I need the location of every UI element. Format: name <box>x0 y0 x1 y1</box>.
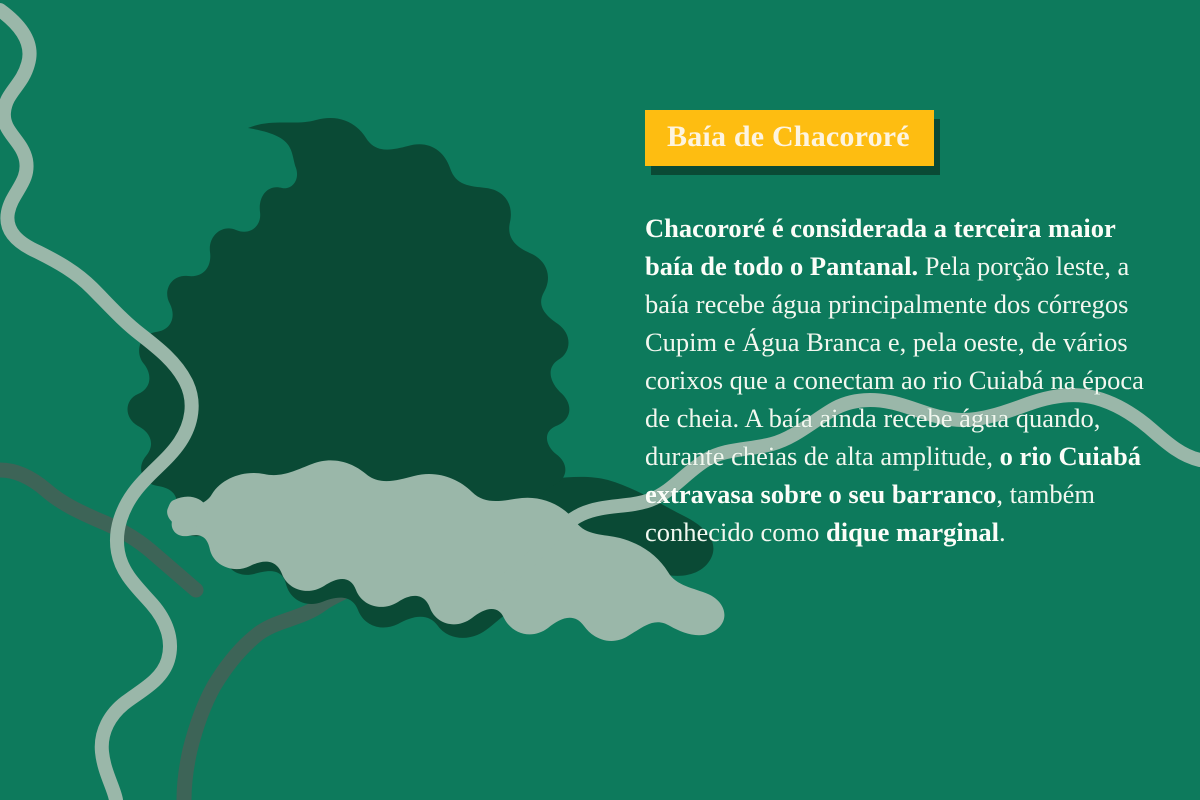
body-text-0: Pela porção leste, a baía recebe água pr… <box>645 251 1144 470</box>
body-copy: Chacororé é considerada a terceira maior… <box>645 210 1150 551</box>
info-panel: Baía de Chacororé Chacororé é considerad… <box>645 110 1165 551</box>
body-emphasis-3: dique marginal <box>826 517 999 547</box>
title-badge-wrapper: Baía de Chacororé <box>645 110 934 166</box>
illustration-canvas: Baía de Chacororé Chacororé é considerad… <box>0 0 1200 800</box>
page-title: Baía de Chacororé <box>667 121 910 153</box>
body-text-4: . <box>999 517 1006 547</box>
body-paragraph: Pela porção leste, a baía recebe água pr… <box>645 251 1144 546</box>
title-badge: Baía de Chacororé <box>645 110 934 166</box>
